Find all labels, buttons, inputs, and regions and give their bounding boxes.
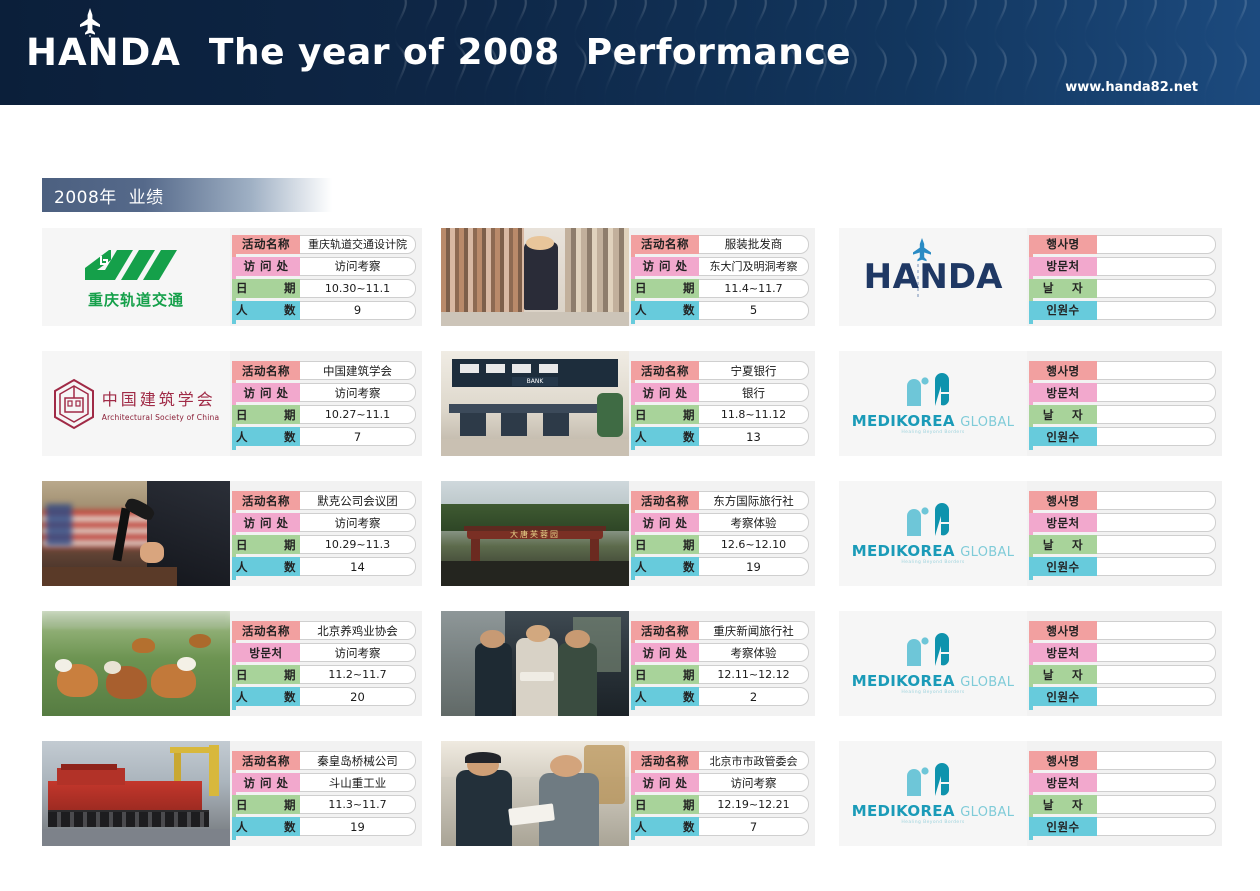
value-visit-place[interactable]: 东大门及明洞考察 — [699, 257, 809, 276]
label-visit-place: 방문처 — [1029, 773, 1097, 792]
value-date[interactable] — [1097, 795, 1216, 814]
card-fields: 活动名称中国建筑学会访 问 处访问考察日 期10.27~11.1人 数7 — [230, 351, 422, 456]
cqrt-mark-icon — [77, 246, 195, 286]
field-date: 날 자 — [1029, 279, 1216, 298]
value-event-name[interactable]: 东方国际旅行社 — [699, 491, 809, 510]
value-headcount[interactable] — [1097, 427, 1216, 446]
field-headcount: 人 数19 — [232, 817, 416, 836]
field-visit-place: 방문처 — [1029, 383, 1216, 402]
field-headcount: 인원수 — [1029, 301, 1216, 320]
label-event-name: 活动名称 — [631, 621, 699, 640]
medikorea-mark-icon — [901, 762, 965, 796]
performance-card[interactable]: 活动名称默克公司会议团访 问 处访问考察日 期10.29~11.3人 数14 — [42, 481, 422, 586]
value-headcount[interactable]: 19 — [300, 817, 416, 836]
value-headcount[interactable] — [1097, 301, 1216, 320]
value-headcount[interactable] — [1097, 557, 1216, 576]
label-visit-place: 방문처 — [1029, 643, 1097, 662]
field-date: 日 期10.30~11.1 — [232, 279, 416, 298]
card-fields: 活动名称秦皇岛桥械公司访 问 处斗山重工业日 期11.3~11.7人 数19 — [230, 741, 422, 846]
field-visit-place: 访 问 处东大门及明洞考察 — [631, 257, 809, 276]
medikorea-mark-icon — [901, 372, 965, 406]
label-date: 날 자 — [1029, 279, 1097, 298]
performance-card[interactable]: 中国建筑学会 Architectural Society of China 活动… — [42, 351, 422, 456]
label-event-name: 活动名称 — [631, 235, 699, 254]
field-date: 日 期12.19~12.21 — [631, 795, 809, 814]
photo-furong-garden: 大唐芙蓉园 — [441, 481, 629, 586]
performance-card[interactable]: 重庆轨道交通 活动名称重庆轨道交通设计院访 问 处访问考察日 期10.30~11… — [42, 228, 422, 326]
label-headcount: 人 数 — [631, 687, 699, 706]
label-visit-place: 访 问 处 — [232, 257, 300, 276]
label-headcount: 인원수 — [1029, 557, 1097, 576]
label-headcount: 人 数 — [631, 817, 699, 836]
photo-furong-garden: 大唐芙蓉园 — [441, 481, 629, 586]
medikorea-tagline: Healing Beyond Borders — [852, 691, 1015, 696]
page-header: HANDA The year of 2008 Performance www.h… — [0, 0, 1260, 105]
field-visit-place: 访 问 处访问考察 — [232, 383, 416, 402]
field-visit-place: 방문처 — [1029, 643, 1216, 662]
card-fields: 活动名称北京养鸡业协会방문처访问考察日 期11.2~11.7人 数20 — [230, 611, 422, 716]
label-event-name: 행사명 — [1029, 235, 1097, 254]
value-headcount[interactable]: 19 — [699, 557, 809, 576]
photo-bank-interior: BANK — [441, 351, 629, 456]
field-event-name: 행사명 — [1029, 621, 1216, 640]
field-headcount: 人 数20 — [232, 687, 416, 706]
label-event-name: 活动名称 — [232, 361, 300, 380]
medikorea-mark-icon — [901, 632, 965, 666]
label-date: 日 期 — [631, 405, 699, 424]
value-event-name[interactable]: 秦皇岛桥械公司 — [300, 751, 416, 770]
performance-card[interactable]: 活动名称北京养鸡业协会방문처访问考察日 期11.2~11.7人 数20 — [42, 611, 422, 716]
label-date: 日 期 — [631, 665, 699, 684]
field-visit-place: 访 问 处银行 — [631, 383, 809, 402]
value-headcount[interactable]: 7 — [699, 817, 809, 836]
performance-card[interactable]: 活动名称重庆新闻旅行社访 问 处考察体验日 期12.11~12.12人 数2 — [441, 611, 815, 716]
label-event-name: 活动名称 — [232, 751, 300, 770]
value-date[interactable] — [1097, 279, 1216, 298]
label-date: 日 期 — [232, 795, 300, 814]
label-event-name: 活动名称 — [232, 235, 300, 254]
value-visit-place[interactable]: 访问考察 — [300, 643, 416, 662]
page-title: The year of 2008 Performance — [209, 32, 851, 73]
field-headcount: 人 数13 — [631, 427, 809, 446]
field-event-name: 活动名称北京养鸡业协会 — [232, 621, 416, 640]
field-event-name: 活动名称默克公司会议团 — [232, 491, 416, 510]
performance-card[interactable]: 活动名称服装批发商访 问 处东大门及明洞考察日 期11.4~11.7人 数5 — [441, 228, 815, 326]
value-date[interactable]: 11.4~11.7 — [699, 279, 809, 298]
value-visit-place[interactable] — [1097, 773, 1216, 792]
value-headcount[interactable]: 9 — [300, 301, 416, 320]
medikorea-logo: MEDIKOREA GLOBAL Healing Beyond Borders — [852, 502, 1015, 566]
label-event-name: 活动名称 — [631, 751, 699, 770]
value-event-name[interactable]: 中国建筑学会 — [300, 361, 416, 380]
photo-clothing-shop — [441, 228, 629, 326]
label-headcount: 인원수 — [1029, 817, 1097, 836]
label-visit-place: 방문처 — [1029, 257, 1097, 276]
field-event-name: 活动名称东方国际旅行社 — [631, 491, 809, 510]
value-date[interactable]: 11.3~11.7 — [300, 795, 416, 814]
label-headcount: 人 数 — [631, 301, 699, 320]
value-headcount[interactable]: 7 — [300, 427, 416, 446]
logo-medikorea-global: MEDIKOREA GLOBAL Healing Beyond Borders — [839, 741, 1027, 846]
field-visit-place: 방문처 — [1029, 773, 1216, 792]
field-event-name: 活动名称中国建筑学会 — [232, 361, 416, 380]
website-url[interactable]: www.handa82.net — [1065, 80, 1198, 95]
label-headcount: 人 数 — [232, 817, 300, 836]
card-fields: 活动名称重庆轨道交通设计院访 问 处访问考察日 期10.30~11.1人 数9 — [230, 228, 422, 326]
field-headcount: 人 数14 — [232, 557, 416, 576]
field-visit-place: 방문처 — [1029, 257, 1216, 276]
photo-two-men-documents — [441, 741, 629, 846]
logo-handa: HANDA — [839, 228, 1027, 326]
label-date: 日 期 — [232, 535, 300, 554]
performance-card[interactable]: MEDIKOREA GLOBAL Healing Beyond Borders … — [839, 611, 1222, 716]
label-event-name: 행사명 — [1029, 621, 1097, 640]
label-date: 日 期 — [631, 279, 699, 298]
photo-chickens-field — [42, 611, 230, 716]
performance-row: 活动名称默克公司会议团访 问 处访问考察日 期10.29~11.3人 数14 大… — [0, 481, 1260, 586]
photo-two-men-documents — [441, 741, 629, 846]
field-event-name: 活动名称秦皇岛桥械公司 — [232, 751, 416, 770]
field-headcount: 人 数7 — [631, 817, 809, 836]
field-headcount: 人 数5 — [631, 301, 809, 320]
photo-three-women-meeting — [441, 611, 629, 716]
airplane-icon — [79, 8, 101, 38]
asc-logo-text-cn: 中国建筑学会 — [102, 386, 220, 410]
medikorea-logo-text: MEDIKOREA GLOBAL — [852, 544, 1015, 559]
field-event-name: 活动名称重庆轨道交通设计院 — [232, 235, 416, 254]
label-headcount: 人 数 — [232, 301, 300, 320]
field-headcount: 人 数19 — [631, 557, 809, 576]
value-event-name[interactable]: 服装批发商 — [699, 235, 809, 254]
field-date: 日 期11.8~11.12 — [631, 405, 809, 424]
asc-hexagon-icon — [53, 378, 95, 430]
performance-card[interactable]: BANK 活动名称宁夏银行访 问 处银行日 期11.8~11.12人 数13 — [441, 351, 815, 456]
performance-card[interactable]: MEDIKOREA GLOBAL Healing Beyond Borders … — [839, 481, 1222, 586]
field-headcount: 人 数2 — [631, 687, 809, 706]
field-visit-place: 访 问 处考察体验 — [631, 643, 809, 662]
label-headcount: 인원수 — [1029, 687, 1097, 706]
label-date: 日 期 — [631, 535, 699, 554]
runway-dash-icon — [916, 264, 920, 298]
handa-logo: HANDA — [26, 34, 181, 71]
label-date: 日 期 — [232, 279, 300, 298]
field-event-name: 活动名称服装批发商 — [631, 235, 809, 254]
field-event-name: 행사명 — [1029, 751, 1216, 770]
field-event-name: 活动名称宁夏银行 — [631, 361, 809, 380]
performance-row: 活动名称北京养鸡业协会방문처访问考察日 期11.2~11.7人 数20 活动名称… — [0, 611, 1260, 716]
value-date[interactable] — [1097, 405, 1216, 424]
label-headcount: 人 数 — [232, 687, 300, 706]
card-fields: 活动名称宁夏银行访 问 处银行日 期11.8~11.12人 数13 — [629, 351, 815, 456]
value-visit-place[interactable]: 访问考察 — [300, 383, 416, 402]
label-visit-place: 访 问 处 — [232, 773, 300, 792]
value-date[interactable]: 10.30~11.1 — [300, 279, 416, 298]
airplane-icon — [912, 238, 932, 264]
logo-architectural-society-of-china: 中国建筑学会 Architectural Society of China — [42, 351, 230, 456]
label-headcount: 人 数 — [631, 557, 699, 576]
photo-speaker-microphone — [42, 481, 230, 586]
label-date: 날 자 — [1029, 405, 1097, 424]
performance-row: 重庆轨道交通 活动名称重庆轨道交通设计院访 问 处访问考察日 期10.30~11… — [0, 228, 1260, 326]
value-headcount[interactable] — [1097, 817, 1216, 836]
value-visit-place[interactable]: 斗山重工业 — [300, 773, 416, 792]
label-visit-place: 访 问 处 — [631, 643, 699, 662]
medikorea-logo-text: MEDIKOREA GLOBAL — [852, 414, 1015, 429]
field-headcount: 인원수 — [1029, 557, 1216, 576]
medikorea-tagline: Healing Beyond Borders — [852, 431, 1015, 436]
label-date: 날 자 — [1029, 795, 1097, 814]
label-date: 日 期 — [232, 665, 300, 684]
card-fields: 행사명방문처날 자인원수 — [1027, 741, 1222, 846]
performance-card[interactable]: MEDIKOREA GLOBAL Healing Beyond Borders … — [839, 741, 1222, 846]
value-event-name[interactable] — [1097, 491, 1216, 510]
label-visit-place: 访 问 处 — [232, 513, 300, 532]
label-headcount: 인원수 — [1029, 301, 1097, 320]
logo-chongqing-rail-transit: 重庆轨道交通 — [42, 228, 230, 326]
label-headcount: 人 数 — [631, 427, 699, 446]
field-headcount: 인원수 — [1029, 817, 1216, 836]
value-headcount[interactable]: 14 — [300, 557, 416, 576]
performance-card[interactable]: HANDA 행사명방문처날 자인원수 — [839, 228, 1222, 326]
field-date: 日 期11.3~11.7 — [232, 795, 416, 814]
label-date: 日 期 — [631, 795, 699, 814]
label-event-name: 活动名称 — [232, 491, 300, 510]
card-fields: 活动名称东方国际旅行社访 问 处考察体验日 期12.6~12.10人 数19 — [629, 481, 815, 586]
value-date[interactable] — [1097, 665, 1216, 684]
field-date: 날 자 — [1029, 665, 1216, 684]
value-event-name[interactable]: 北京市市政管委会 — [699, 751, 809, 770]
card-fields: 행사명방문처날 자인원수 — [1027, 611, 1222, 716]
value-date[interactable]: 12.6~12.10 — [699, 535, 809, 554]
card-fields: 活动名称服装批发商访 问 处东大门及明洞考察日 期11.4~11.7人 数5 — [629, 228, 815, 326]
label-visit-place: 访 问 处 — [631, 773, 699, 792]
card-fields: 행사명방문처날 자인원수 — [1027, 228, 1222, 326]
photo-chickens-field — [42, 611, 230, 716]
logo-medikorea-global: MEDIKOREA GLOBAL Healing Beyond Borders — [839, 351, 1027, 456]
value-headcount[interactable]: 2 — [699, 687, 809, 706]
value-event-name[interactable]: 重庆轨道交通设计院 — [300, 235, 416, 254]
card-fields: 活动名称默克公司会议团访 问 处访问考察日 期10.29~11.3人 数14 — [230, 481, 422, 586]
value-date[interactable]: 11.8~11.12 — [699, 405, 809, 424]
label-visit-place: 访 问 处 — [631, 383, 699, 402]
medikorea-logo: MEDIKOREA GLOBAL Healing Beyond Borders — [852, 762, 1015, 826]
value-date[interactable]: 10.27~11.1 — [300, 405, 416, 424]
label-headcount: 인원수 — [1029, 427, 1097, 446]
field-visit-place: 访 问 处考察体验 — [631, 513, 809, 532]
field-visit-place: 访 问 处斗山重工业 — [232, 773, 416, 792]
asc-logo-text-en: Architectural Society of China — [102, 413, 220, 422]
field-date: 日 期12.6~12.10 — [631, 535, 809, 554]
medikorea-tagline: Healing Beyond Borders — [852, 561, 1015, 566]
field-date: 日 期10.29~11.3 — [232, 535, 416, 554]
value-date[interactable]: 11.2~11.7 — [300, 665, 416, 684]
card-fields: 活动名称重庆新闻旅行社访 问 处考察体验日 期12.11~12.12人 数2 — [629, 611, 815, 716]
value-visit-place[interactable]: 访问考察 — [699, 773, 809, 792]
field-date: 日 期11.2~11.7 — [232, 665, 416, 684]
value-date[interactable]: 12.11~12.12 — [699, 665, 809, 684]
performance-card[interactable]: MEDIKOREA GLOBAL Healing Beyond Borders … — [839, 351, 1222, 456]
label-visit-place: 방문처 — [1029, 513, 1097, 532]
performance-grid: 重庆轨道交通 活动名称重庆轨道交通设计院访 问 处访问考察日 期10.30~11… — [0, 228, 1260, 871]
label-visit-place: 访 问 处 — [631, 513, 699, 532]
performance-card[interactable]: 大唐芙蓉园 活动名称东方国际旅行社访 问 处考察体验日 期12.6~12.10人… — [441, 481, 815, 586]
field-visit-place: 访 问 处访问考察 — [631, 773, 809, 792]
value-visit-place[interactable] — [1097, 643, 1216, 662]
value-event-name[interactable] — [1097, 621, 1216, 640]
section-header: 2008年 业绩 — [42, 178, 332, 212]
performance-row: 中国建筑学会 Architectural Society of China 活动… — [0, 351, 1260, 456]
medikorea-tagline: Healing Beyond Borders — [852, 821, 1015, 826]
logo-medikorea-global: MEDIKOREA GLOBAL Healing Beyond Borders — [839, 611, 1027, 716]
photo-clothing-shop — [441, 228, 629, 326]
medikorea-logo-text: MEDIKOREA GLOBAL — [852, 674, 1015, 689]
photo-speaker-microphone — [42, 481, 230, 586]
field-visit-place: 방문처 — [1029, 513, 1216, 532]
section-title: 2008年 业绩 — [54, 183, 164, 208]
field-visit-place: 방문처访问考察 — [232, 643, 416, 662]
medikorea-mark-icon — [901, 502, 965, 536]
value-event-name[interactable]: 北京养鸡业协会 — [300, 621, 416, 640]
field-event-name: 행사명 — [1029, 361, 1216, 380]
field-headcount: 인원수 — [1029, 687, 1216, 706]
asc-logo: 中国建筑学会 Architectural Society of China — [53, 378, 220, 430]
label-event-name: 행사명 — [1029, 751, 1097, 770]
label-event-name: 행사명 — [1029, 491, 1097, 510]
label-headcount: 人 数 — [232, 557, 300, 576]
field-date: 날 자 — [1029, 795, 1216, 814]
field-date: 日 期12.11~12.12 — [631, 665, 809, 684]
medikorea-logo: MEDIKOREA GLOBAL Healing Beyond Borders — [852, 632, 1015, 696]
field-date: 日 期10.27~11.1 — [232, 405, 416, 424]
value-visit-place[interactable] — [1097, 257, 1216, 276]
label-date: 日 期 — [232, 405, 300, 424]
label-headcount: 人 数 — [232, 427, 300, 446]
label-date: 날 자 — [1029, 665, 1097, 684]
label-date: 날 자 — [1029, 535, 1097, 554]
label-visit-place: 访 问 处 — [232, 383, 300, 402]
value-visit-place[interactable] — [1097, 513, 1216, 532]
field-event-name: 活动名称北京市市政管委会 — [631, 751, 809, 770]
value-visit-place[interactable] — [1097, 383, 1216, 402]
value-event-name[interactable]: 默克公司会议团 — [300, 491, 416, 510]
value-visit-place[interactable]: 访问考察 — [300, 513, 416, 532]
value-date[interactable] — [1097, 535, 1216, 554]
field-date: 日 期11.4~11.7 — [631, 279, 809, 298]
photo-three-women-meeting — [441, 611, 629, 716]
value-visit-place[interactable]: 访问考察 — [300, 257, 416, 276]
field-date: 날 자 — [1029, 405, 1216, 424]
value-visit-place[interactable]: 考察体验 — [699, 643, 809, 662]
field-date: 날 자 — [1029, 535, 1216, 554]
label-event-name: 행사명 — [1029, 361, 1097, 380]
value-date[interactable]: 12.19~12.21 — [699, 795, 809, 814]
label-event-name: 活动名称 — [232, 621, 300, 640]
card-fields: 행사명방문처날 자인원수 — [1027, 351, 1222, 456]
handa-card-logo-text: HANDA — [864, 260, 1003, 294]
value-event-name[interactable]: 重庆新闻旅行社 — [699, 621, 809, 640]
field-event-name: 행사명 — [1029, 491, 1216, 510]
logo-medikorea-global: MEDIKOREA GLOBAL Healing Beyond Borders — [839, 481, 1027, 586]
photo-heavy-transport-vehicle — [42, 741, 230, 846]
field-headcount: 人 数9 — [232, 301, 416, 320]
handa-logo-text: HANDA — [26, 34, 181, 71]
value-event-name[interactable] — [1097, 235, 1216, 254]
label-event-name: 活动名称 — [631, 491, 699, 510]
value-visit-place[interactable]: 考察体验 — [699, 513, 809, 532]
value-event-name[interactable] — [1097, 361, 1216, 380]
photo-heavy-transport-vehicle — [42, 741, 230, 846]
field-visit-place: 访 问 处访问考察 — [232, 513, 416, 532]
field-event-name: 행사명 — [1029, 235, 1216, 254]
value-headcount[interactable]: 13 — [699, 427, 809, 446]
value-visit-place[interactable]: 银行 — [699, 383, 809, 402]
handa-card-logo: HANDA — [864, 260, 1003, 294]
performance-card[interactable]: 活动名称北京市市政管委会访 问 处访问考察日 期12.19~12.21人 数7 — [441, 741, 815, 846]
cqrt-logo-text: 重庆轨道交通 — [77, 293, 195, 308]
field-headcount: 인원수 — [1029, 427, 1216, 446]
label-visit-place: 방문처 — [1029, 383, 1097, 402]
photo-bank-interior: BANK — [441, 351, 629, 456]
card-fields: 행사명방문처날 자인원수 — [1027, 481, 1222, 586]
performance-row: 活动名称秦皇岛桥械公司访 问 处斗山重工业日 期11.3~11.7人 数19 活… — [0, 741, 1260, 846]
value-headcount[interactable]: 20 — [300, 687, 416, 706]
label-visit-place: 访 问 处 — [631, 257, 699, 276]
value-headcount[interactable] — [1097, 687, 1216, 706]
value-headcount[interactable]: 5 — [699, 301, 809, 320]
value-event-name[interactable] — [1097, 751, 1216, 770]
value-date[interactable]: 10.29~11.3 — [300, 535, 416, 554]
label-event-name: 活动名称 — [631, 361, 699, 380]
field-headcount: 人 数7 — [232, 427, 416, 446]
medikorea-logo: MEDIKOREA GLOBAL Healing Beyond Borders — [852, 372, 1015, 436]
field-event-name: 活动名称重庆新闻旅行社 — [631, 621, 809, 640]
label-visit-place: 방문처 — [232, 643, 300, 662]
value-event-name[interactable]: 宁夏银行 — [699, 361, 809, 380]
medikorea-logo-text: MEDIKOREA GLOBAL — [852, 804, 1015, 819]
card-fields: 活动名称北京市市政管委会访 问 处访问考察日 期12.19~12.21人 数7 — [629, 741, 815, 846]
cqrt-logo: 重庆轨道交通 — [77, 246, 195, 308]
field-visit-place: 访 问 处访问考察 — [232, 257, 416, 276]
performance-card[interactable]: 活动名称秦皇岛桥械公司访 问 处斗山重工业日 期11.3~11.7人 数19 — [42, 741, 422, 846]
